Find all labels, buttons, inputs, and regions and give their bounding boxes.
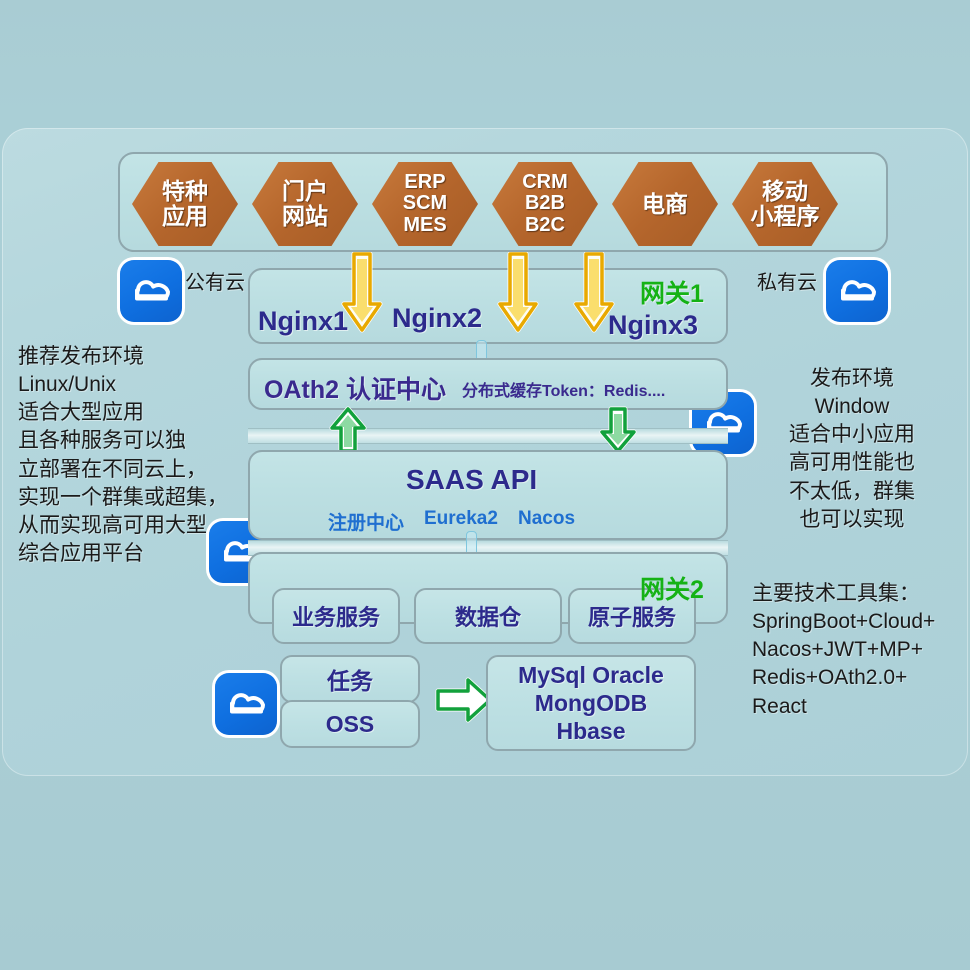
oauth2-title: OAth2 认证中心 xyxy=(264,370,446,406)
app-hexagon-crm[interactable]: CRM B2B B2C xyxy=(492,162,598,246)
app-hexagon-portal[interactable]: 门户 网站 xyxy=(252,162,358,246)
gateway1-label: 网关1 xyxy=(640,274,704,310)
arrow-down-yellow-1 xyxy=(340,252,384,334)
service-box-business[interactable]: 业务服务 xyxy=(272,588,400,644)
cloud-icon xyxy=(120,260,182,322)
private-cloud-label: 私有云 xyxy=(757,266,817,295)
app-hexagon-ecommerce[interactable]: 电商 xyxy=(612,162,718,246)
nginx2-label[interactable]: Nginx2 xyxy=(392,303,482,334)
saas-api-title: SAAS API xyxy=(406,464,537,496)
tech-tools-text: 主要技术工具集： SpringBoot+Cloud+ Nacos+JWT+MP+… xyxy=(752,580,967,721)
service-box-label: 数据仓 xyxy=(455,600,521,632)
service-box-datawarehouse[interactable]: 数据仓 xyxy=(414,588,562,644)
diagram-canvas: 特种 应用 门户 网站 ERP SCM MES CRM B2B B2C 电商 移… xyxy=(0,0,970,970)
cloud-icon-storage[interactable] xyxy=(215,673,277,735)
rail-auth-to-saas xyxy=(248,428,728,444)
app-hexagon-mobile[interactable]: 移动 小程序 xyxy=(732,162,838,246)
right-note-text: 发布环境 Window 适合中小应用 高可用性能也 不太低，群集 也可以实现 xyxy=(752,365,952,534)
app-hexagon-label: 门户 网站 xyxy=(282,179,328,229)
cloud-icon xyxy=(215,673,277,735)
gateway1-nginx-container: 网关1 Nginx1 Nginx2 Nginx3 xyxy=(248,268,728,344)
task-box[interactable]: 任务 xyxy=(280,655,420,703)
token-cache-label: 分布式缓存Token：Redis.... xyxy=(462,377,665,401)
app-hexagon-label: 电商 xyxy=(642,192,688,217)
database-line: Hbase xyxy=(556,717,625,745)
arrow-up-green xyxy=(328,406,368,454)
saas-api-container: SAAS API 注册中心 Eureka2 Nacos xyxy=(248,450,728,540)
app-hexagon-label: CRM B2B B2C xyxy=(522,172,568,237)
service-box-label: 业务服务 xyxy=(292,600,380,632)
task-box-label: 任务 xyxy=(327,662,373,696)
oss-box[interactable]: OSS xyxy=(280,700,420,748)
public-cloud-label: 公有云 xyxy=(185,266,245,295)
registry-nacos-label: Nacos xyxy=(518,508,575,530)
app-hexagon-special[interactable]: 特种 应用 xyxy=(132,162,238,246)
app-hexagon-label: 特种 应用 xyxy=(162,179,208,229)
database-line: MySql Oracle xyxy=(518,661,664,689)
cloud-icon-public[interactable] xyxy=(120,260,182,322)
gateway2-label: 网关2 xyxy=(640,570,704,606)
database-box[interactable]: MySql Oracle MongODB Hbase xyxy=(486,655,696,751)
cloud-icon xyxy=(826,260,888,322)
arrow-down-yellow-3 xyxy=(572,252,616,334)
nginx1-label[interactable]: Nginx1 xyxy=(258,306,348,337)
registry-eureka2-label: Eureka2 xyxy=(424,508,498,530)
registry-center-label: 注册中心 xyxy=(328,508,404,535)
left-note-text: 推荐发布环境 Linux/Unix 适合大型应用 且各种服务可以独 立部署在不同… xyxy=(18,343,230,568)
app-hexagon-label: ERP SCM MES xyxy=(403,172,447,237)
oss-box-label: OSS xyxy=(326,711,375,738)
database-line: MongODB xyxy=(535,689,647,717)
app-hexagon-erp[interactable]: ERP SCM MES xyxy=(372,162,478,246)
nginx3-label[interactable]: Nginx3 xyxy=(608,310,698,341)
application-layer-container: 特种 应用 门户 网站 ERP SCM MES CRM B2B B2C 电商 移… xyxy=(118,152,888,252)
arrow-down-green xyxy=(598,406,638,454)
cloud-icon-private[interactable] xyxy=(826,260,888,322)
arrow-right-green xyxy=(434,674,494,726)
app-hexagon-label: 移动 小程序 xyxy=(751,179,820,229)
oauth2-auth-center-container: OAth2 认证中心 分布式缓存Token：Redis.... xyxy=(248,358,728,410)
arrow-down-yellow-2 xyxy=(496,252,540,334)
